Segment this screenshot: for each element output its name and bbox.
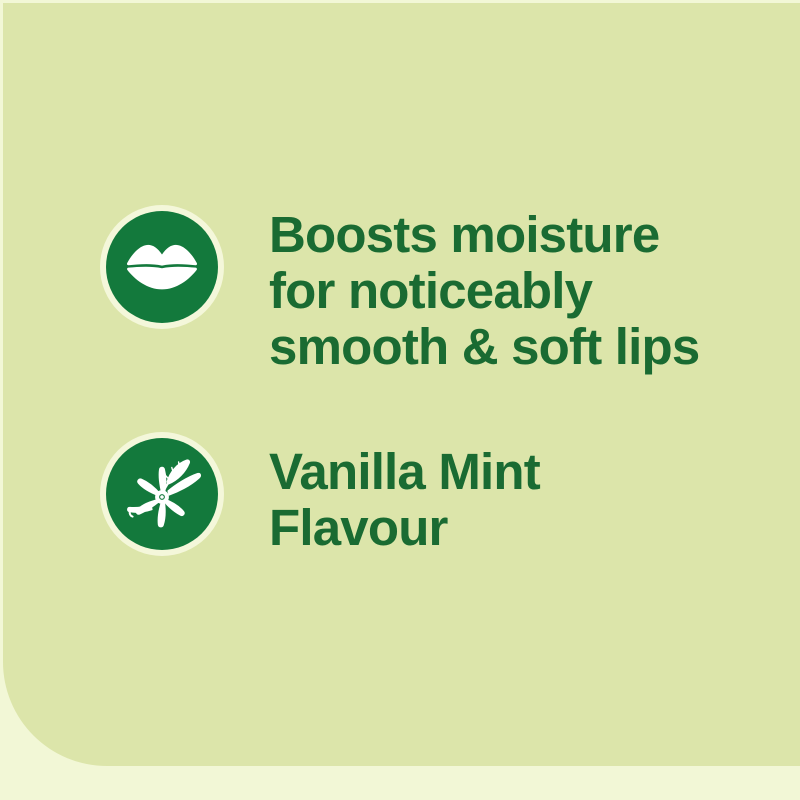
icon-halo-moisture xyxy=(100,205,224,329)
vanilla-flower-mint-icon xyxy=(120,455,204,533)
feature-text-moisture: Boosts moisture for noticeably smooth & … xyxy=(269,205,699,375)
product-benefits-panel: Boosts moisture for noticeably smooth & … xyxy=(0,0,800,800)
lips-icon xyxy=(126,244,198,290)
feature-row-moisture: Boosts moisture for noticeably smooth & … xyxy=(100,205,699,375)
feature-row-flavour: Vanilla Mint Flavour xyxy=(100,432,540,556)
icon-halo-flavour xyxy=(100,432,224,556)
green-background-panel xyxy=(3,3,800,766)
feature-text-flavour: Vanilla Mint Flavour xyxy=(269,432,540,556)
icon-disc-flavour xyxy=(106,438,218,550)
icon-disc-moisture xyxy=(106,211,218,323)
